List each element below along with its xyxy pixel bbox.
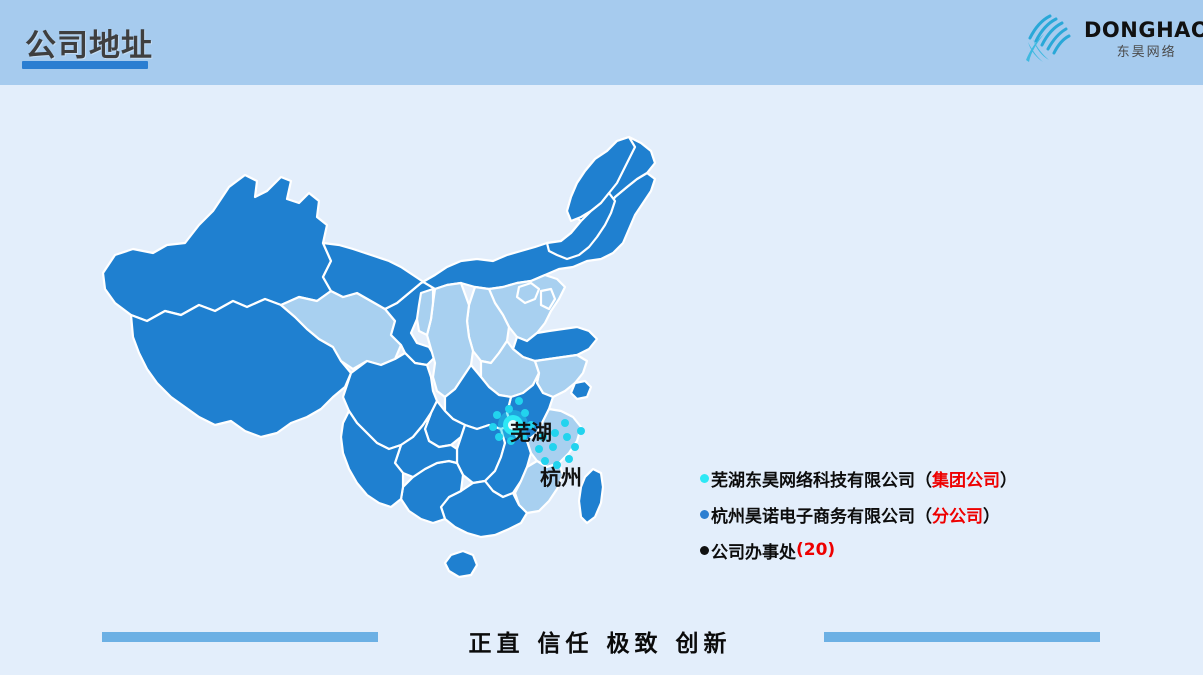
office-marker [493,411,501,419]
office-marker [571,443,579,451]
feather-wing-icon [1020,8,1082,70]
title-underline-bar [22,61,148,69]
footer-bar-right [824,632,1100,642]
legend-tag: 分公司 [932,502,983,527]
legend-bullet-blue [700,510,709,519]
office-marker [549,443,557,451]
legend-bullet-black [700,546,709,555]
legend-bullet-cyan [700,474,709,483]
office-marker [577,427,585,435]
province-hainan [445,551,477,577]
page-title: 公司地址 [25,20,153,65]
legend: 芜湖东昊网络科技有限公司 （ 集团公司 ） 杭州昊诺电子商务有限公司 （ 分公司… [700,460,1120,568]
logo-text-block: DONGHAO 东昊网络 [1084,20,1203,59]
legend-paren-close: ） [1000,466,1017,491]
legend-item-branch-company: 杭州昊诺电子商务有限公司 （ 分公司 ） [700,496,1120,532]
footer-bar-left [102,632,378,642]
office-marker [563,433,571,441]
legend-label: 杭州昊诺电子商务有限公司 [711,502,915,527]
province-taiwan [579,469,603,523]
office-marker [565,455,573,463]
page-header: 公司地址 DONGHAO 东昊网络 [0,0,1203,85]
office-marker [541,457,549,465]
office-marker [527,421,535,429]
legend-tag: (20) [796,540,835,560]
logo-name: DONGHAO [1084,20,1203,41]
office-marker [551,429,559,437]
province-shanghai [571,381,591,399]
office-marker [553,461,561,469]
china-map: 芜湖 杭州 [95,125,675,605]
china-map-svg [95,125,675,605]
office-marker [561,419,569,427]
footer-slogan: 正直 信任 极致 创新 [455,624,745,658]
legend-paren-open: （ [915,466,932,491]
legend-item-group-company: 芜湖东昊网络科技有限公司 （ 集团公司 ） [700,460,1120,496]
legend-label: 公司办事处 [711,538,796,563]
headquarters-marker [498,410,528,440]
legend-paren-close: ） [983,502,1000,527]
office-marker [535,445,543,453]
company-logo: DONGHAO 东昊网络 [1020,6,1185,72]
office-marker [489,423,497,431]
legend-paren-open: （ [915,502,932,527]
office-marker [539,433,547,441]
legend-label: 芜湖东昊网络科技有限公司 [711,466,915,491]
legend-item-offices: 公司办事处 (20) [700,532,1120,568]
logo-subtitle: 东昊网络 [1084,46,1203,59]
legend-tag: 集团公司 [932,466,1000,491]
office-marker [515,397,523,405]
